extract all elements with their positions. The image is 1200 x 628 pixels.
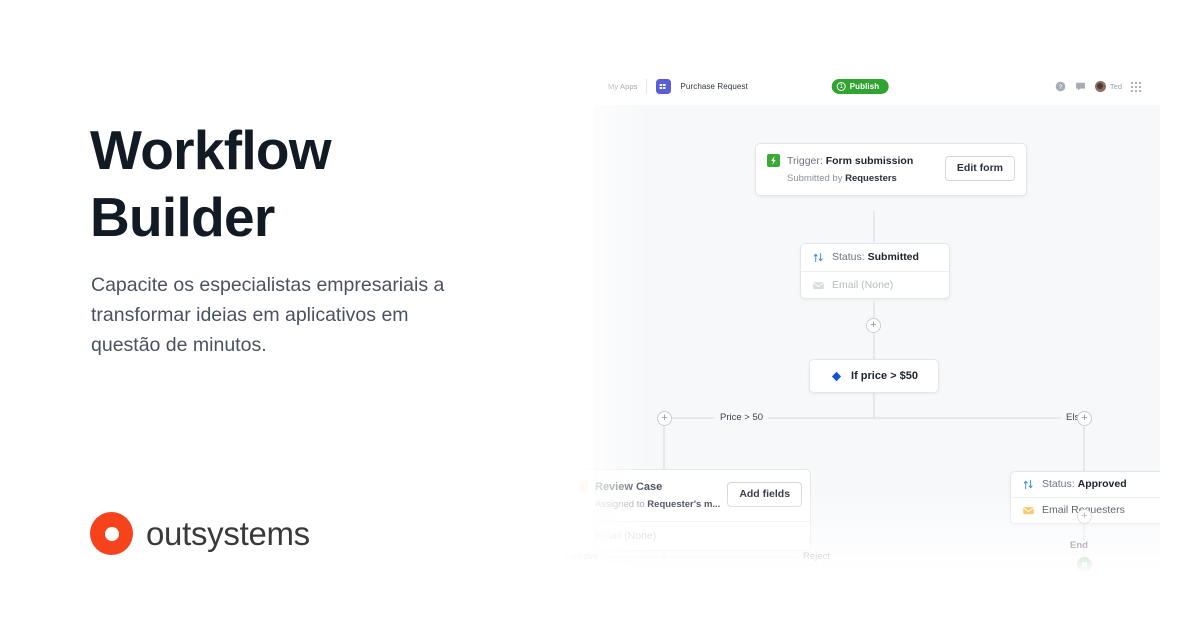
edit-form-button[interactable]: Edit form bbox=[945, 156, 1015, 181]
add-node-button-true-branch[interactable]: + bbox=[657, 411, 672, 426]
svg-text:?: ? bbox=[1059, 84, 1063, 91]
chat-icon[interactable] bbox=[1075, 81, 1086, 92]
condition-label: If price > $50 bbox=[851, 369, 918, 384]
review-case-subtitle: Assigned to Requester's m... bbox=[595, 498, 720, 512]
publish-count-badge: 1 bbox=[837, 82, 846, 91]
add-node-button[interactable]: + bbox=[866, 318, 881, 333]
outsystems-logo-icon bbox=[90, 512, 133, 555]
outsystems-logo-wordmark: outsystems bbox=[146, 517, 310, 550]
status-arrows-icon bbox=[759, 583, 772, 596]
envelope-icon bbox=[575, 530, 588, 543]
help-circle-icon[interactable]: ? bbox=[1055, 81, 1066, 92]
branch-label-approve: Approve bbox=[558, 551, 603, 563]
publish-button[interactable]: 1 Publish bbox=[832, 79, 889, 94]
page-title-line1: Workflow bbox=[90, 119, 331, 181]
header-actions: ? Ted bbox=[1055, 68, 1141, 105]
envelope-icon bbox=[759, 611, 772, 624]
status-submitted-email-label: Email (None) bbox=[832, 278, 893, 293]
review-case-node[interactable]: Review Case Assigned to Requester's m...… bbox=[563, 469, 811, 551]
stop-square-icon[interactable] bbox=[1077, 557, 1092, 572]
trigger-label: Trigger: Form submission bbox=[787, 154, 913, 169]
workflow-builder-app-window: My Apps Purchase Request 1 Publish ? bbox=[560, 68, 1160, 573]
my-apps-link[interactable]: My Apps bbox=[608, 82, 637, 91]
trigger-subtitle: Submitted by Requesters bbox=[787, 172, 913, 186]
status-submitted-label: Status: Submitted bbox=[832, 250, 919, 265]
status-arrows-icon bbox=[1022, 478, 1035, 491]
diamond-icon bbox=[830, 370, 843, 383]
publish-button-label: Publish bbox=[850, 82, 880, 91]
add-node-button-false-branch[interactable]: + bbox=[1077, 411, 1092, 426]
review-case-email-label: Email (None) bbox=[595, 529, 656, 544]
outsystems-logo: outsystems bbox=[90, 512, 310, 555]
review-case-title: Review Case bbox=[595, 480, 720, 495]
status-submitted-node[interactable]: Status: Submitted Email (None) bbox=[800, 243, 950, 299]
envelope-icon bbox=[812, 279, 825, 292]
status-rejected-label: Status: Rejected bbox=[779, 582, 858, 597]
condition-node[interactable]: If price > $50 bbox=[809, 359, 939, 393]
status-approved-label: Status: Approved bbox=[1042, 477, 1127, 492]
grid-icon[interactable] bbox=[1131, 82, 1141, 92]
trigger-node[interactable]: Trigger: Form submission Submitted by Re… bbox=[755, 143, 1027, 196]
envelope-icon-filled bbox=[1022, 504, 1035, 517]
branch-label-reject: Reject bbox=[798, 551, 835, 563]
app-grid-icon bbox=[656, 79, 671, 94]
promo-page: WorkflowBuilder Capacite os especialista… bbox=[0, 0, 1200, 628]
user-name-label: Ted bbox=[1110, 82, 1122, 91]
page-title-line2: Builder bbox=[90, 186, 275, 248]
end-label: End bbox=[1070, 540, 1088, 551]
lightning-bolt-icon bbox=[767, 154, 780, 167]
avatar bbox=[1095, 81, 1106, 92]
status-rejected-node[interactable]: Status: Rejected Email (None) bbox=[747, 575, 897, 628]
header-divider bbox=[646, 79, 647, 94]
status-arrows-icon bbox=[812, 251, 825, 264]
user-account[interactable]: Ted bbox=[1095, 81, 1122, 92]
status-rejected-email-label: Email (None) bbox=[779, 610, 840, 625]
app-header-bar: My Apps Purchase Request 1 Publish ? bbox=[560, 68, 1160, 105]
workflow-canvas[interactable]: Trigger: Form submission Submitted by Re… bbox=[593, 105, 1160, 573]
app-name-label[interactable]: Purchase Request bbox=[680, 82, 747, 91]
hero-subcopy: Capacite os especialistas empresariais a… bbox=[91, 270, 476, 360]
app-breadcrumb: My Apps Purchase Request bbox=[608, 68, 748, 105]
hero-panel: WorkflowBuilder Capacite os especialista… bbox=[90, 0, 510, 628]
add-node-button-before-end[interactable]: + bbox=[1077, 509, 1092, 524]
add-fields-button[interactable]: Add fields bbox=[727, 482, 802, 507]
branch-label-true: Price > 50 bbox=[715, 412, 768, 424]
person-task-icon bbox=[575, 480, 588, 493]
page-title: WorkflowBuilder bbox=[90, 117, 510, 251]
